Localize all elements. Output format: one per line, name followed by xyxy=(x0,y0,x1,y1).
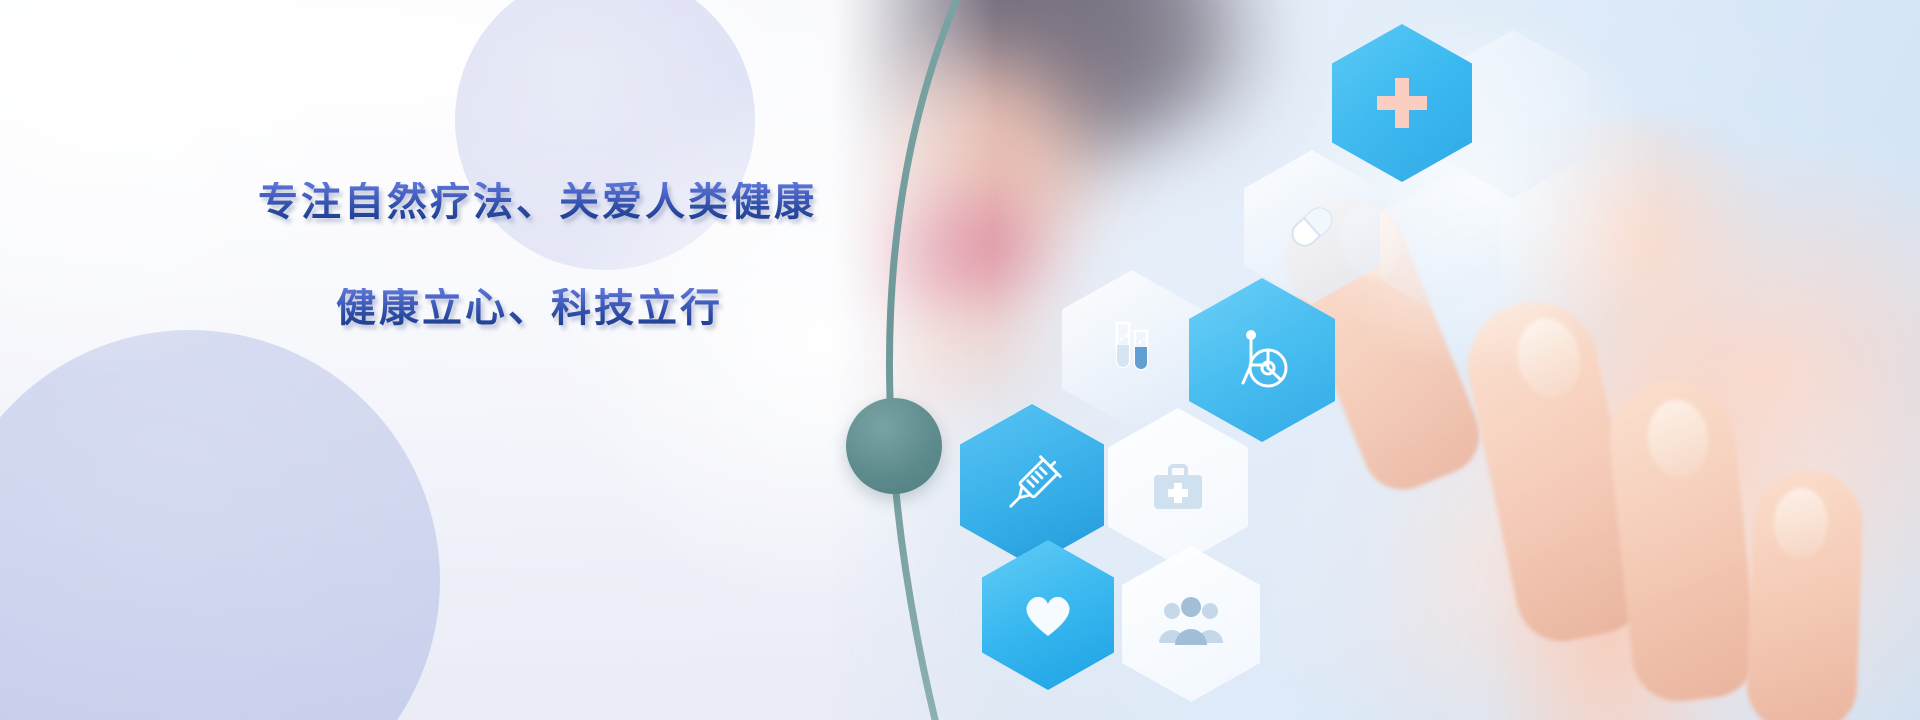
headline-block: 专注自然疗法、关爱人类健康 健康立心、科技立行 xyxy=(258,182,898,328)
hero-banner: 专注自然疗法、关爱人类健康 健康立心、科技立行 xyxy=(0,0,1920,720)
heart-icon[interactable] xyxy=(982,540,1114,690)
headline-line-2: 健康立心、科技立行 xyxy=(336,288,898,328)
hexagon-decor-b xyxy=(1380,178,1500,314)
decor-circle-bottom xyxy=(0,330,440,720)
syringe-icon[interactable] xyxy=(960,404,1104,566)
first-aid-kit-icon[interactable] xyxy=(1108,408,1248,566)
test-tubes-icon[interactable] xyxy=(1062,270,1202,428)
headline-line-1: 专注自然疗法、关爱人类健康 xyxy=(258,182,898,222)
teal-arc-node xyxy=(846,398,942,494)
people-group-icon[interactable] xyxy=(1122,546,1260,702)
medical-icon-cluster xyxy=(820,0,1920,720)
